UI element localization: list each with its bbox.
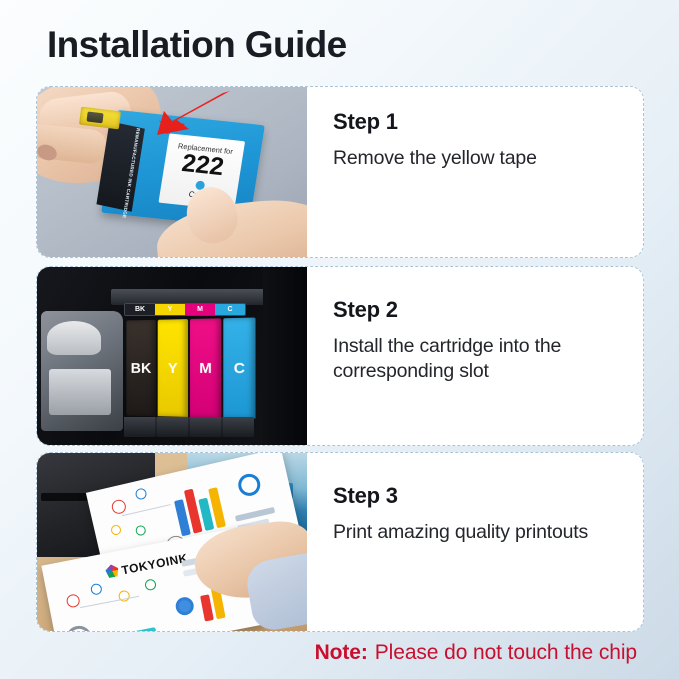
cartridge-slot-m: M xyxy=(190,318,221,417)
printout-brand: TOKYOINK xyxy=(120,551,189,578)
slot-label-strip: BK Y M C xyxy=(124,303,246,316)
infographic-dot xyxy=(144,578,157,591)
infographic-dot xyxy=(134,487,147,500)
strip-label-m: M xyxy=(185,304,215,315)
tokyoink-logo-icon xyxy=(105,563,120,578)
infographic-connector xyxy=(122,504,171,516)
page-title: Installation Guide xyxy=(47,26,347,63)
strip-label-bk: BK xyxy=(125,304,155,315)
step-2-text-panel: Step 2 Install the cartridge into the co… xyxy=(307,267,643,445)
infographic-connector xyxy=(80,596,139,608)
infographic-dot xyxy=(118,590,131,603)
cartridge-slot-bk: BK xyxy=(126,320,155,416)
step-1-text-panel: Step 1 Remove the yellow tape xyxy=(307,87,643,257)
step-3-image: TOKYOINK TOKYOINK xyxy=(37,453,307,631)
infographic-dot xyxy=(90,583,103,596)
step-2-title: Step 2 xyxy=(333,297,625,323)
printer-mechanism xyxy=(41,311,123,431)
step-2-description: Install the cartridge into the correspon… xyxy=(333,334,625,384)
infographic-dot xyxy=(110,524,122,536)
step-card-2: BK Y M C BK Y M C Step 2 Install the car… xyxy=(36,266,644,446)
step-2-image: BK Y M C BK Y M C xyxy=(37,267,307,445)
note-label: Note xyxy=(315,641,361,664)
slot-base xyxy=(124,417,254,437)
cartridge-slots: BK Y M C xyxy=(126,317,255,418)
printer-shadow xyxy=(263,267,307,445)
step-card-1: REMANUFACTURED INK CARTRIDGE Replacement… xyxy=(36,86,644,258)
strip-label-y: Y xyxy=(155,304,185,315)
infographic-dot xyxy=(66,593,81,608)
step-3-description: Print amazing quality printouts xyxy=(333,520,625,545)
infographic-dot xyxy=(135,524,147,536)
label-model-number: 222 xyxy=(180,152,225,180)
infographic-dot xyxy=(174,596,195,617)
strip-label-c: C xyxy=(215,304,245,315)
step-card-3: TOKYOINK TOKYOINK Step 3 Print amazing q… xyxy=(36,452,644,632)
slot-base-segment xyxy=(124,417,155,437)
note-text: Please do not touch the chip xyxy=(375,641,637,664)
note-separator: : xyxy=(361,641,368,664)
slot-base-segment xyxy=(190,417,221,437)
infographic-bar xyxy=(235,507,275,522)
infographic-dot xyxy=(110,498,127,515)
slot-base-segment xyxy=(223,417,254,437)
note-line: Note:Please do not touch the chip xyxy=(315,641,637,665)
step-3-text-panel: Step 3 Print amazing quality printouts xyxy=(307,453,643,631)
cartridge-slot-y: Y xyxy=(158,319,188,417)
cartridge-slot-c: C xyxy=(223,317,255,418)
step-1-title: Step 1 xyxy=(333,109,625,135)
slot-base-segment xyxy=(157,417,188,437)
infographic-dot xyxy=(64,624,94,631)
infographic-bar xyxy=(102,627,156,631)
step-1-image: REMANUFACTURED INK CARTRIDGE Replacement… xyxy=(37,87,307,257)
step-1-description: Remove the yellow tape xyxy=(333,146,625,171)
red-arrow-icon xyxy=(137,89,232,141)
infographic-dot xyxy=(236,472,262,498)
step-3-title: Step 3 xyxy=(333,483,625,509)
